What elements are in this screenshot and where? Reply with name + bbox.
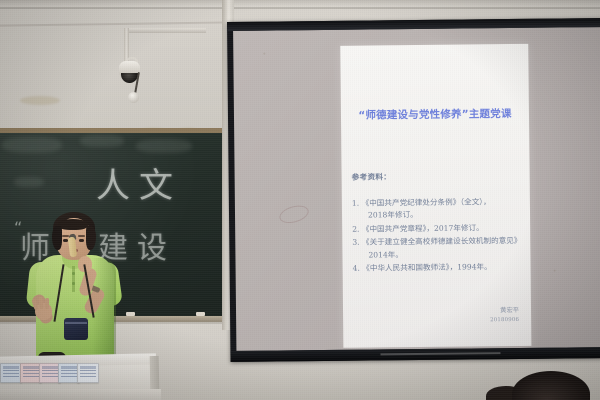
pouch-zipper — [65, 322, 87, 324]
card-text-lines — [80, 370, 96, 379]
lower-wall-seam — [0, 322, 232, 324]
motion-sensor-icon — [128, 92, 139, 103]
blackboard-headline: 人文 — [96, 158, 182, 207]
card-text-lines — [42, 370, 58, 379]
chalk-piece[interactable] — [126, 312, 135, 316]
reference-text: 《中国共产党章程》，2017年修订。 — [362, 223, 484, 233]
slide-author: 黄宏平 — [490, 307, 519, 316]
speaker-button — [72, 272, 75, 275]
projection-screen-surface: “师德建设与党性修养”主题党课 参考资料： 1. 《中国共产党纪律处分条例》（全… — [233, 27, 600, 351]
card-text-lines — [23, 370, 39, 379]
card-text-lines — [61, 370, 77, 379]
slide-date: 20180906 — [490, 315, 519, 324]
chalk-smudge — [2, 137, 62, 153]
speaker-button — [72, 282, 75, 285]
card-header-band — [3, 366, 19, 369]
card-text-lines — [3, 370, 19, 379]
slide-body: 参考资料： 1. 《中国共产党纪律处分条例》（全文）， 2018年修订。 2. … — [352, 170, 525, 276]
speaker-eye-right — [79, 239, 84, 242]
speaker-eyebrow-right — [78, 235, 85, 237]
screen-speck — [554, 270, 556, 272]
speaker-placket — [72, 266, 75, 292]
speaker-bangs — [58, 219, 88, 230]
reference-text-cont: 2018年修订。 — [352, 208, 524, 222]
conduit-pipe-horizontal — [124, 28, 206, 33]
chalk-smudge — [80, 135, 124, 147]
slide-title: “师德建设与党性修养”主题党课 — [341, 106, 529, 123]
podium-lower-shelf — [0, 389, 161, 400]
speaker-finger — [45, 298, 49, 309]
classroom-photo-scene: 人文 “ 师德建设 “师德建设与党性修养”主题党课 参考资料： 1. — [0, 0, 600, 400]
list-item: 4. 《中华人民共和国教师法》，1994年。 — [353, 261, 525, 275]
chalk-smudge — [14, 177, 44, 187]
reference-number: 1. — [352, 198, 359, 207]
card-header-band — [61, 366, 77, 369]
projected-slide: “师德建设与党性修养”主题党课 参考资料： 1. 《中国共产党纪律处分条例》（全… — [340, 44, 531, 348]
slide-signature: 黄宏平 20180906 — [490, 307, 519, 324]
reference-number: 4. — [353, 264, 360, 273]
list-item: 3. 《关于建立健全高校师德建设长效机制的意见》 2014年。 — [352, 235, 524, 262]
screen-bottom-highlight — [380, 352, 500, 355]
card-header-band — [80, 366, 96, 369]
card-header-band — [42, 366, 58, 369]
reference-text: 《中国共产党纪律处分条例》（全文）， — [362, 197, 491, 207]
podium-card[interactable] — [77, 363, 99, 383]
chalk-smudge — [136, 139, 192, 153]
reference-text: 《关于建立健全高校师德建设长效机制的意见》 — [362, 236, 522, 247]
reference-list: 1. 《中国共产党纪律处分条例》（全文）， 2018年修订。 2. 《中国共产党… — [352, 195, 525, 275]
slide-section-label: 参考资料： — [352, 170, 524, 184]
projection-screen[interactable]: “师德建设与党性修养”主题党课 参考资料： 1. 《中国共产党纪律处分条例》（全… — [227, 18, 600, 362]
chalk-piece[interactable] — [196, 312, 205, 316]
card-header-band — [23, 366, 39, 369]
reference-number: 2. — [352, 224, 359, 233]
podium-card[interactable] — [0, 363, 22, 383]
reference-text: 《中华人民共和国教师法》，1994年。 — [362, 262, 492, 272]
list-item: 1. 《中国共产党纪律处分条例》（全文）， 2018年修订。 — [352, 195, 524, 222]
screen-scuff-mark — [277, 203, 310, 226]
screen-speck — [263, 53, 265, 55]
ceiling-seam — [0, 7, 600, 9]
speaker-hair-left — [52, 226, 62, 250]
reference-text-cont: 2014年。 — [352, 247, 524, 261]
reference-number: 3. — [352, 238, 359, 247]
list-item: 2. 《中国共产党章程》，2017年修订。 — [352, 221, 524, 235]
wall-stain — [20, 96, 60, 105]
